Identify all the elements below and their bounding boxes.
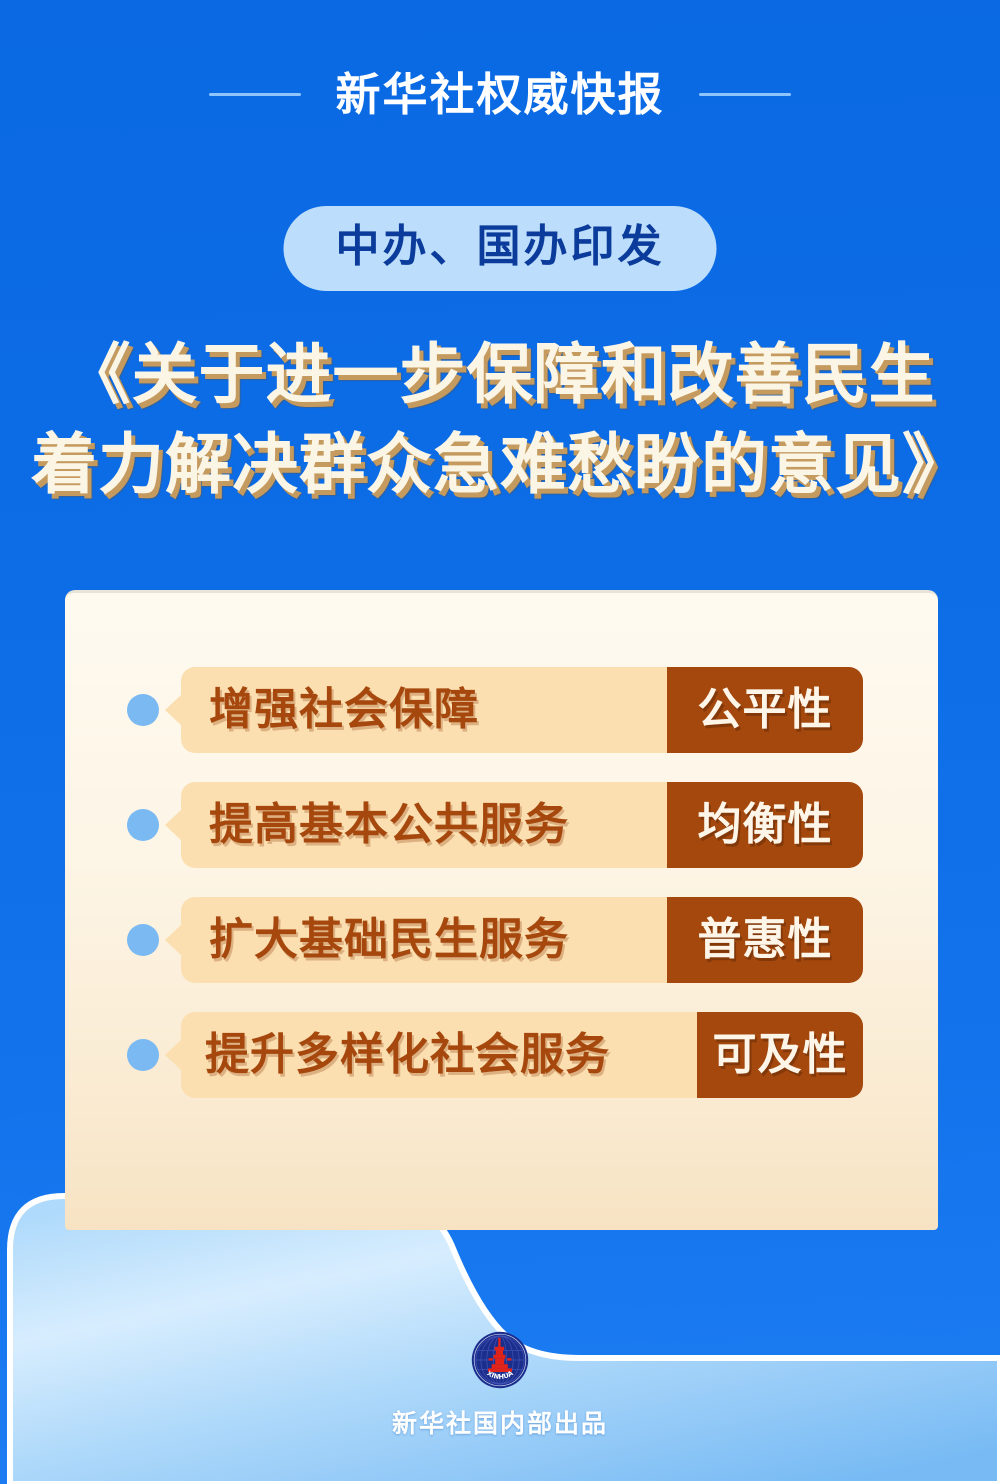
issuer-badge-text: 中办、国办印发 — [336, 221, 665, 272]
blue-dot-icon — [127, 924, 159, 956]
measure-tag-text: 普惠性 — [698, 918, 833, 962]
header: 新华社权威快报 — [0, 72, 1000, 117]
list-item: 增强社会保障 公平性 — [65, 667, 938, 753]
page-title-line-1: 《关于进一步保障和改善民生 — [0, 330, 1000, 420]
issuer-badge: 中办、国办印发 — [284, 206, 717, 291]
measure-tag-text: 可及性 — [713, 1033, 848, 1077]
footer: XINHUA 新华社国内部出品 — [0, 1330, 1000, 1440]
measure-label-text: 提升多样化社会服务 — [205, 1033, 610, 1077]
measure-label: 提高基本公共服务 — [181, 782, 667, 868]
content-panel: 增强社会保障 公平性 提高基本公共服务 均衡性 — [65, 590, 938, 1230]
footer-text: 新华社国内部出品 — [392, 1404, 608, 1440]
list-item: 扩大基础民生服务 普惠性 — [65, 897, 938, 983]
measure-tag: 可及性 — [697, 1012, 863, 1098]
measure-label: 扩大基础民生服务 — [181, 897, 667, 983]
measure-label-text: 扩大基础民生服务 — [209, 918, 569, 962]
blue-dot-icon — [127, 1039, 159, 1071]
measure-label-text: 增强社会保障 — [209, 688, 479, 732]
measure-chip: 扩大基础民生服务 普惠性 — [181, 897, 863, 983]
measure-tag-text: 公平性 — [698, 688, 833, 732]
xinhua-logo-icon: XINHUA — [470, 1330, 530, 1390]
measure-list: 增强社会保障 公平性 提高基本公共服务 均衡性 — [65, 667, 938, 1127]
measure-tag-text: 均衡性 — [698, 803, 833, 847]
list-item: 提升多样化社会服务 可及性 — [65, 1012, 938, 1098]
measure-chip: 提升多样化社会服务 可及性 — [181, 1012, 863, 1098]
measure-chip: 增强社会保障 公平性 — [181, 667, 863, 753]
page-title: 《关于进一步保障和改善民生 着力解决群众急难愁盼的意见》 — [0, 330, 1000, 510]
measure-chip: 提高基本公共服务 均衡性 — [181, 782, 863, 868]
header-rule-left-icon — [209, 93, 301, 96]
list-item: 提高基本公共服务 均衡性 — [65, 782, 938, 868]
blue-dot-icon — [127, 809, 159, 841]
measure-tag: 普惠性 — [667, 897, 863, 983]
blue-dot-icon — [127, 694, 159, 726]
measure-label: 增强社会保障 — [181, 667, 667, 753]
measure-label-text: 提高基本公共服务 — [209, 803, 569, 847]
header-title: 新华社权威快报 — [335, 72, 664, 117]
measure-label: 提升多样化社会服务 — [181, 1012, 697, 1098]
header-rule-right-icon — [699, 93, 791, 96]
measure-tag: 均衡性 — [667, 782, 863, 868]
measure-tag: 公平性 — [667, 667, 863, 753]
page-title-line-2: 着力解决群众急难愁盼的意见》 — [0, 420, 1000, 510]
